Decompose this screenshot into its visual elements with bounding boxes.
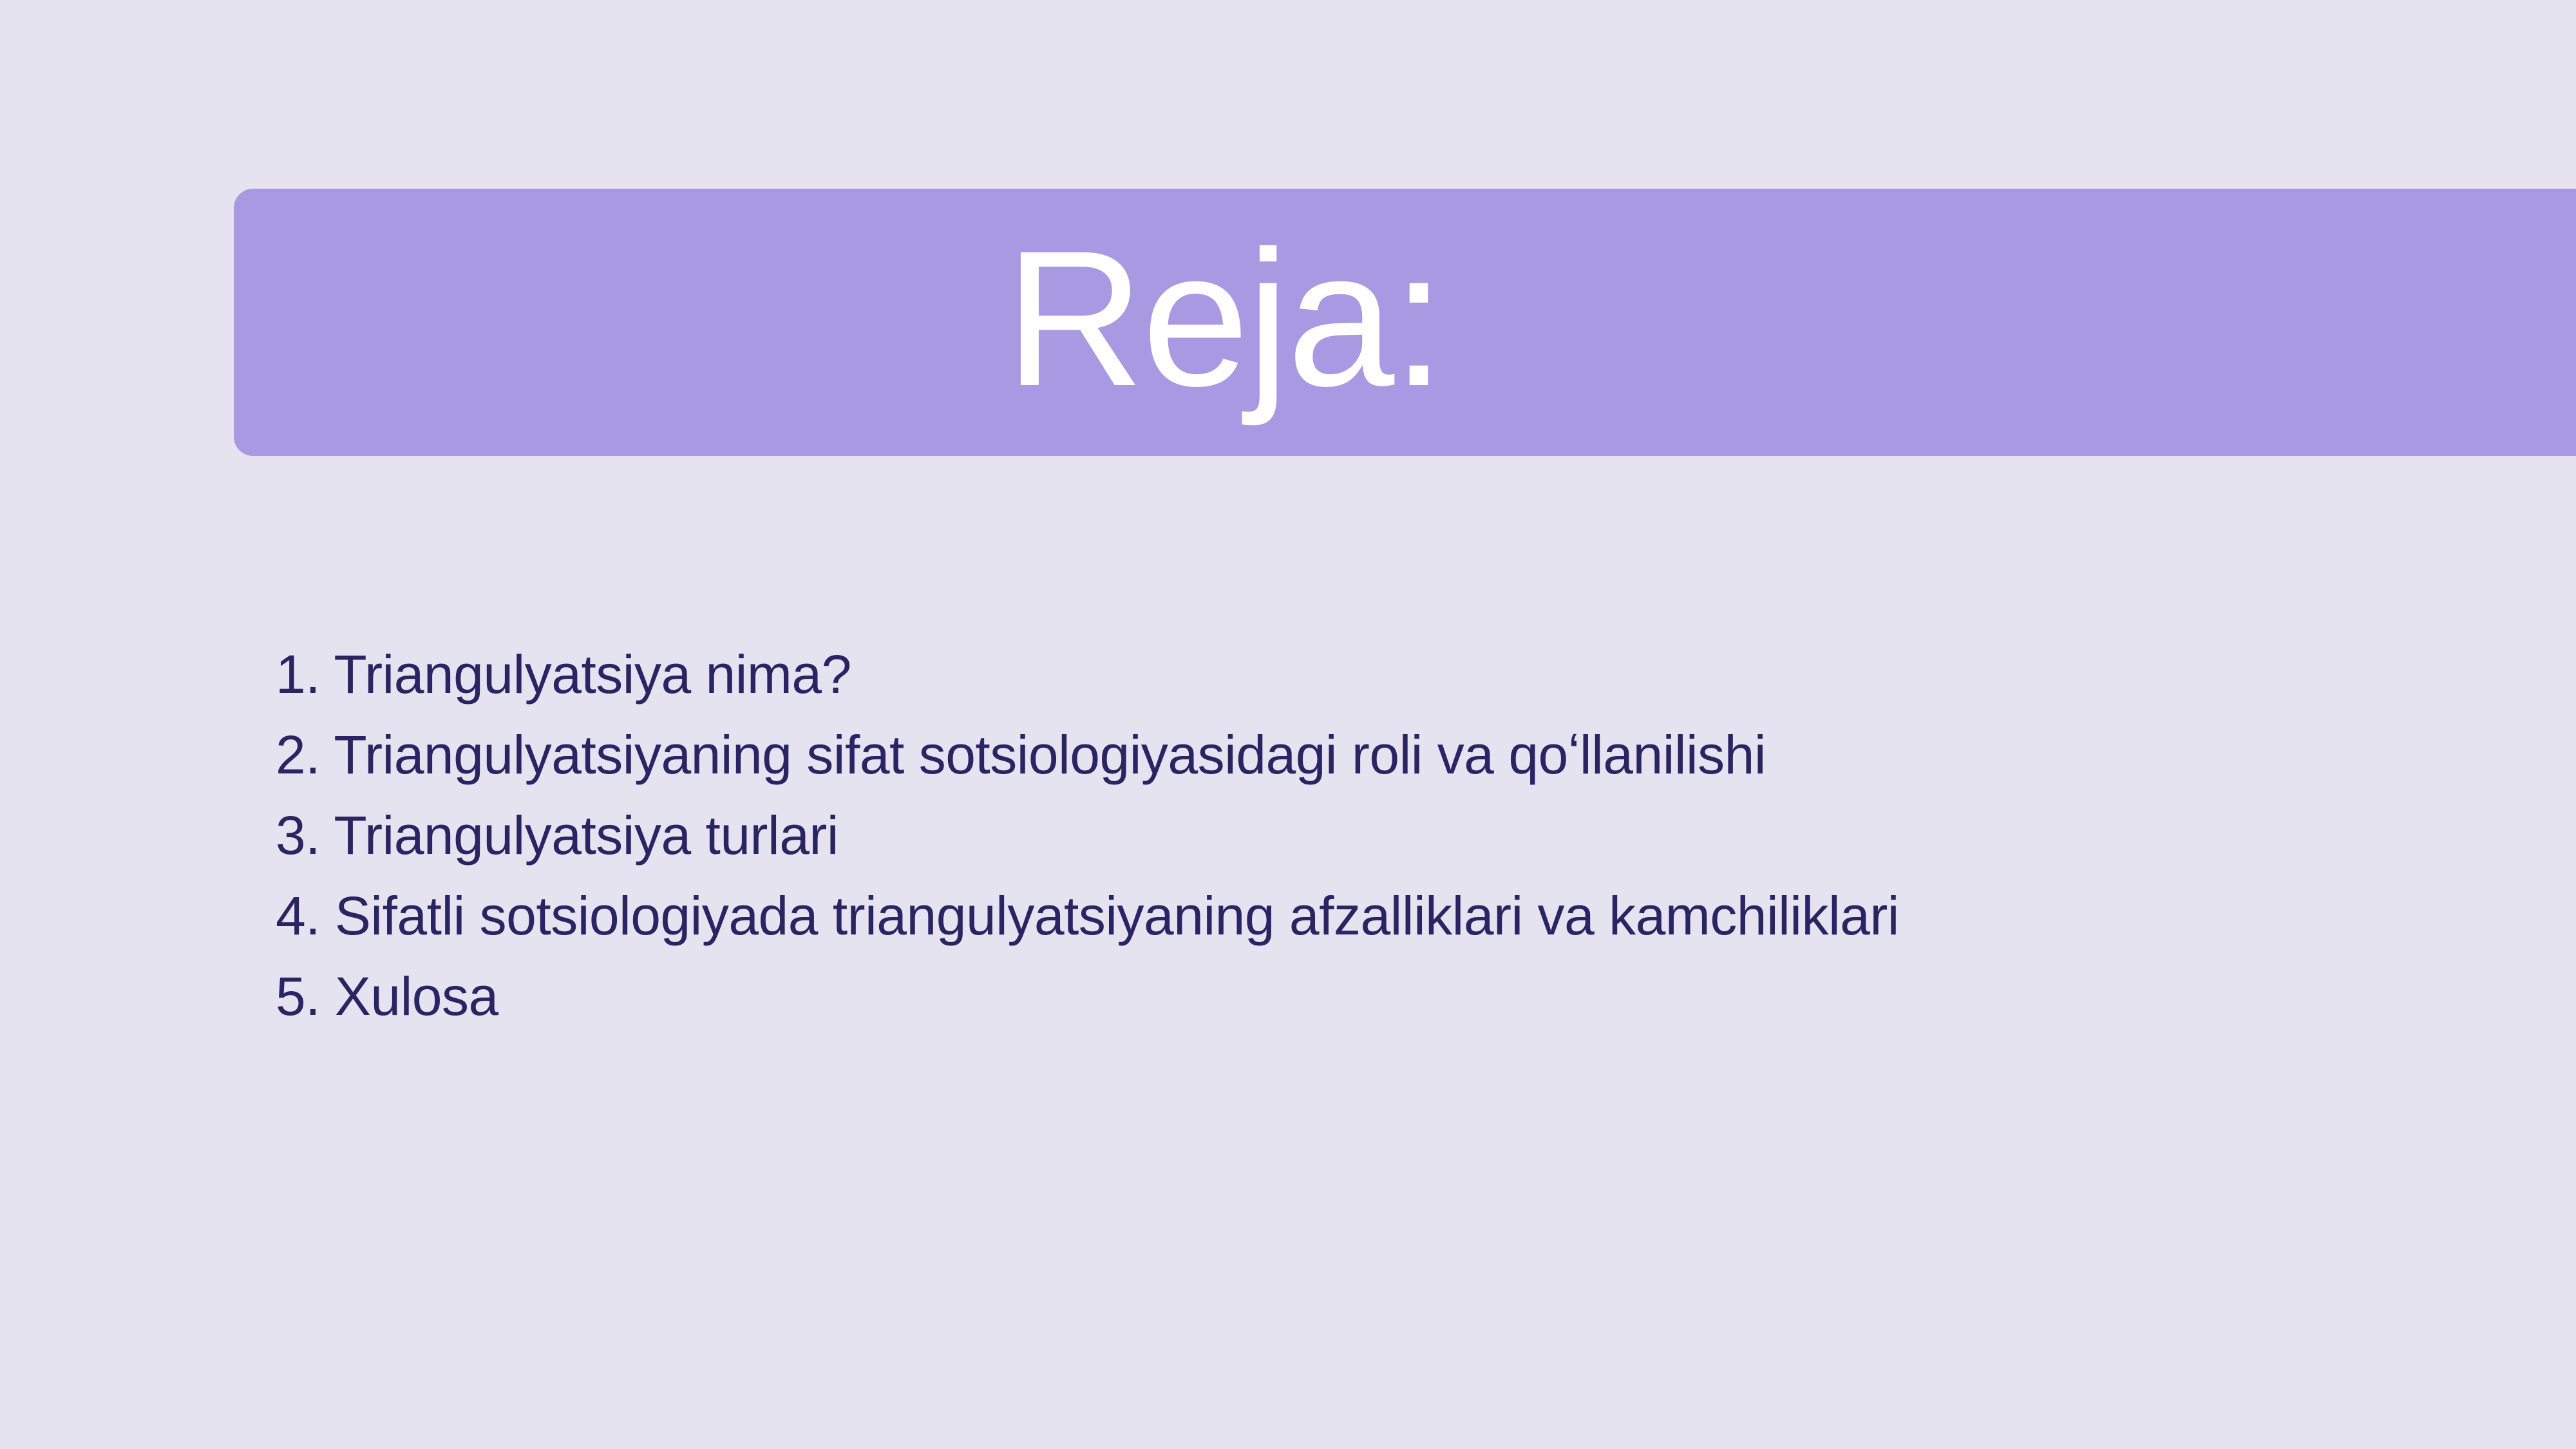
agenda-item-2: 2. Triangulyatsiyaning sifat sotsiologiy… [276,715,2433,795]
presentation-slide: Reja: 1. Triangulyatsiya nima? 2. Triang… [0,0,2576,1449]
slide-title: Reja: [234,189,2214,456]
agenda-item-3: 3. Triangulyatsiya turlari [276,795,2433,876]
agenda-list: 1. Triangulyatsiya nima? 2. Triangulyats… [276,634,2433,1037]
agenda-item-5: 5. Xulosa [276,956,2433,1037]
agenda-item-1: 1. Triangulyatsiya nima? [276,634,2433,715]
title-banner: Reja: [234,189,2576,456]
agenda-item-4: 4. Sifatli sotsiologiyada triangulyatsiy… [276,876,2433,956]
